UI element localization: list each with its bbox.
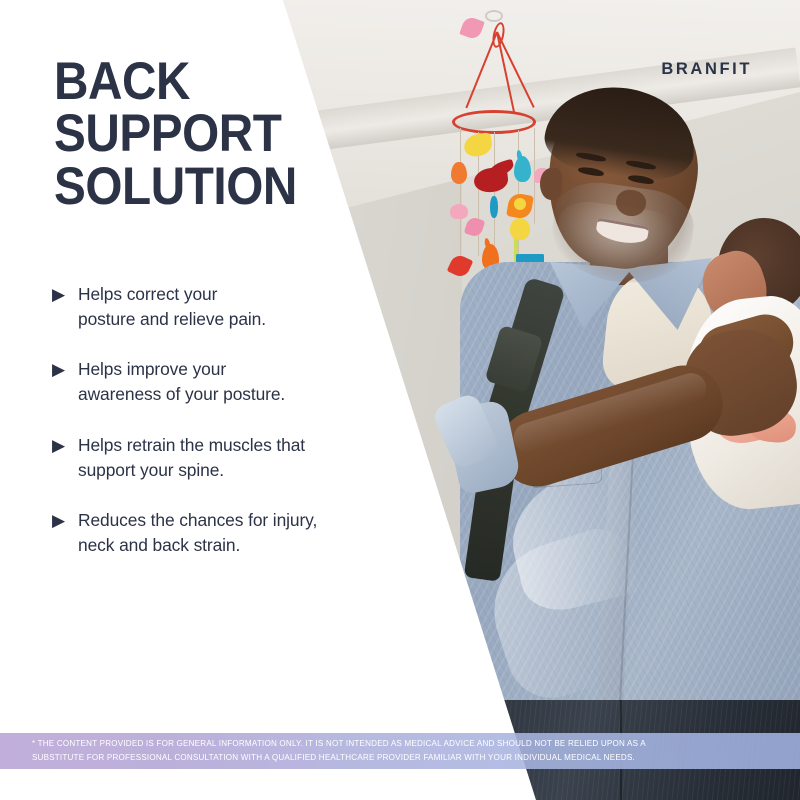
headline-line-2: SUPPORT — [54, 108, 324, 160]
list-item-label: Reduces the chances for injury, neck and… — [78, 508, 317, 557]
ear — [540, 168, 562, 200]
list-item: ▶ Reduces the chances for injury, neck a… — [52, 508, 412, 557]
disclaimer-text: * THE CONTENT PROVIDED IS FOR GENERAL IN… — [0, 737, 674, 765]
list-item-label: Helps retrain the muscles that support y… — [78, 433, 305, 482]
man-holding-baby — [430, 0, 800, 800]
list-item-label: Helps correct your posture and relieve p… — [78, 282, 266, 331]
list-item-label: Helps improve your awareness of your pos… — [78, 357, 285, 406]
triangle-bullet-icon: ▶ — [52, 282, 78, 307]
triangle-bullet-icon: ▶ — [52, 357, 78, 382]
brand-logo: BRANFIT — [661, 60, 752, 79]
list-item: ▶ Helps improve your awareness of your p… — [52, 357, 412, 406]
list-item: ▶ Helps retrain the muscles that support… — [52, 433, 412, 482]
benefits-list: ▶ Helps correct your posture and relieve… — [52, 282, 412, 584]
poster-canvas: BRANFIT BACK SUPPORT SOLUTION ▶ Helps co… — [0, 0, 800, 800]
disclaimer-bar: * THE CONTENT PROVIDED IS FOR GENERAL IN… — [0, 733, 800, 769]
page-title: BACK SUPPORT SOLUTION — [54, 56, 324, 213]
triangle-bullet-icon: ▶ — [52, 433, 78, 458]
triangle-bullet-icon: ▶ — [52, 508, 78, 533]
list-item: ▶ Helps correct your posture and relieve… — [52, 282, 412, 331]
headline-line-1: BACK — [54, 56, 324, 108]
headline-line-3: SOLUTION — [54, 161, 324, 213]
